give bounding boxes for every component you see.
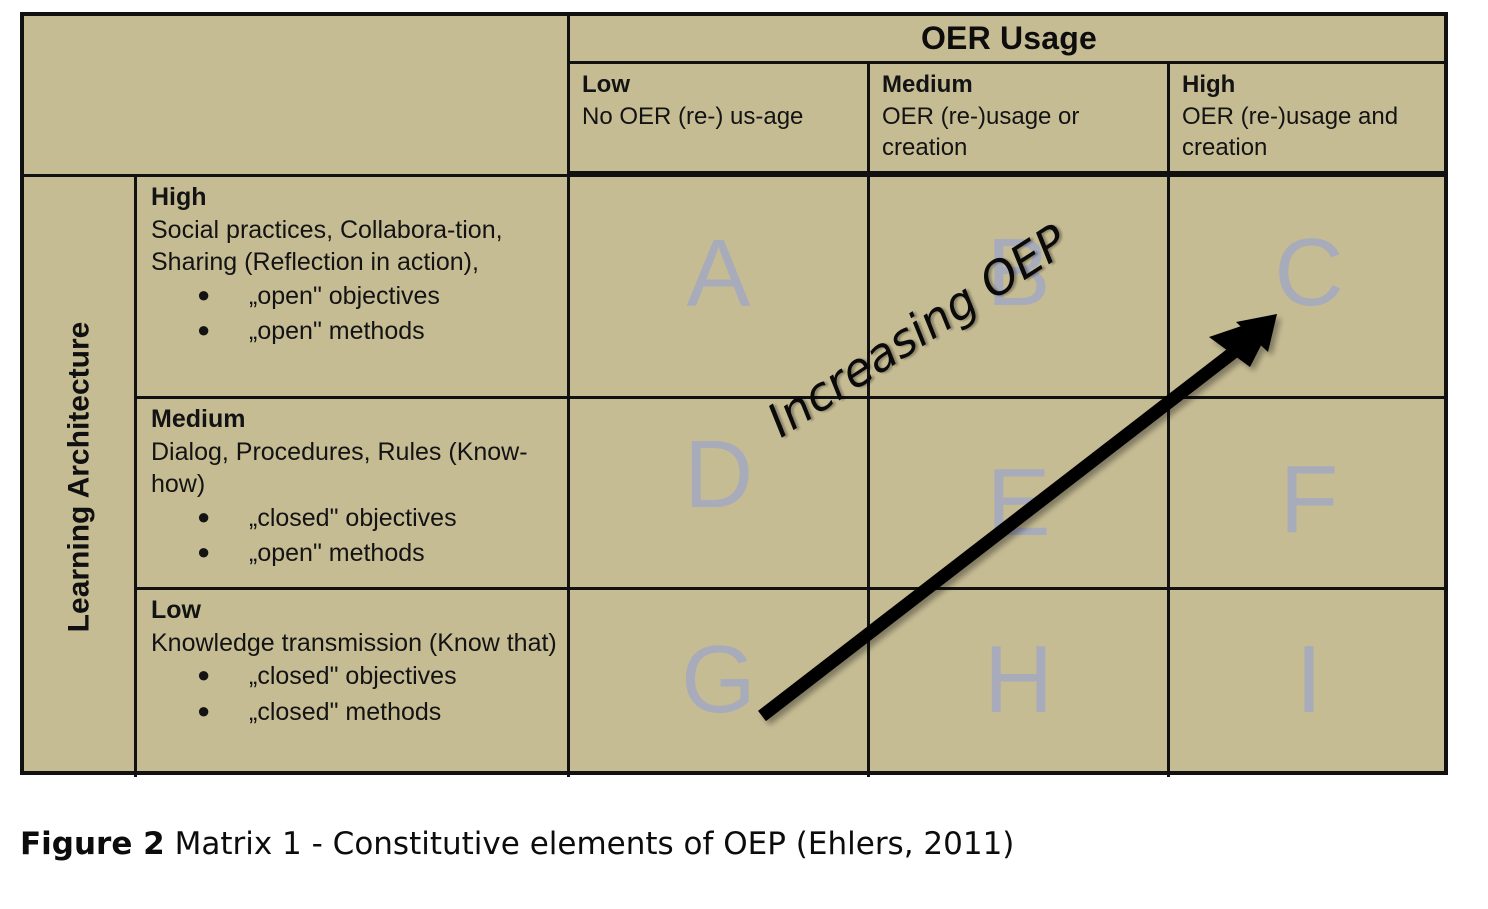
figure-caption: Figure 2 Matrix 1 - Constitutive element… — [20, 826, 1014, 862]
bullet-icon: ● — [197, 501, 210, 532]
matrix-cell-B[interactable]: B — [867, 174, 1167, 396]
bullet-icon: ● — [197, 536, 210, 567]
matrix-cell-E-label: E — [986, 455, 1050, 551]
list-item: ● „open" methods — [197, 536, 559, 572]
list-item-label: „open" objectives — [249, 282, 440, 310]
row-header-high-desc: Social practices, Collabora-tion, Sharin… — [151, 214, 559, 279]
corner-spacer-bottom — [24, 64, 567, 174]
row-header-low-label: Low — [151, 594, 559, 627]
figure-caption-text: Matrix 1 - Constitutive elements of OEP … — [165, 826, 1015, 862]
row-header-medium: Medium Dialog, Procedures, Rules (Know-h… — [134, 396, 567, 587]
column-header-low: Low No OER (re-) us-age — [567, 64, 867, 174]
bullet-icon: ● — [197, 314, 210, 345]
bullet-icon: ● — [197, 695, 210, 726]
matrix-cell-C[interactable]: C — [1167, 174, 1448, 396]
list-item-label: „closed" methods — [249, 698, 441, 726]
row-header-low: Low Knowledge transmission (Know that) ●… — [134, 587, 567, 777]
matrix-cell-B-label: B — [986, 225, 1050, 321]
bullet-icon: ● — [197, 279, 210, 310]
matrix-cell-I[interactable]: I — [1167, 587, 1448, 777]
list-item: ● „open" objectives — [197, 279, 559, 315]
oep-matrix-table: OER Usage Low No OER (re-) us-age Medium… — [20, 12, 1448, 775]
matrix-cell-G-label: G — [681, 632, 756, 728]
list-item: ● „closed" methods — [197, 695, 559, 731]
row-axis-title: Learning Architecture — [62, 322, 96, 633]
matrix-cell-D-label: D — [684, 427, 753, 523]
matrix-cell-F-label: F — [1280, 452, 1339, 548]
list-item-label: „closed" objectives — [249, 662, 457, 690]
bullet-icon: ● — [197, 659, 210, 690]
column-header-medium-desc: OER (re-)usage or creation — [882, 101, 1157, 164]
row-header-high-label: High — [151, 181, 559, 214]
list-item: ● „closed" objectives — [197, 501, 559, 537]
column-header-high-label: High — [1182, 69, 1438, 101]
matrix-grid: OER Usage Low No OER (re-) us-age Medium… — [24, 16, 1444, 771]
list-item: ● „open" methods — [197, 314, 559, 350]
matrix-cell-E[interactable]: E — [867, 396, 1167, 587]
column-header-medium: Medium OER (re-)usage or creation — [867, 64, 1167, 174]
row-header-medium-desc: Dialog, Procedures, Rules (Know-how) — [151, 436, 559, 501]
list-item-label: „open" methods — [249, 317, 425, 345]
matrix-cell-A[interactable]: A — [567, 174, 867, 396]
row-header-low-desc: Knowledge transmission (Know that) — [151, 627, 559, 660]
column-header-high: High OER (re-)usage and creation — [1167, 64, 1448, 174]
row-header-high-bullets: ● „open" objectives ● „open" methods — [151, 279, 559, 350]
column-header-low-desc: No OER (re-) us-age — [582, 101, 857, 133]
row-header-medium-bullets: ● „closed" objectives ● „open" methods — [151, 501, 559, 572]
row-header-low-bullets: ● „closed" objectives ● „closed" methods — [151, 659, 559, 730]
matrix-cell-H[interactable]: H — [867, 587, 1167, 777]
row-header-high: High Social practices, Collabora-tion, S… — [134, 174, 567, 396]
matrix-cell-F[interactable]: F — [1167, 396, 1448, 587]
column-header-low-label: Low — [582, 69, 857, 101]
matrix-cell-C-label: C — [1274, 225, 1343, 321]
figure-2-oep-matrix: OER Usage Low No OER (re-) us-age Medium… — [0, 0, 1488, 904]
column-header-medium-label: Medium — [882, 69, 1157, 101]
list-item-label: „closed" objectives — [249, 504, 457, 532]
matrix-cell-D[interactable]: D — [567, 396, 867, 587]
matrix-cell-G[interactable]: G — [567, 587, 867, 777]
row-header-medium-label: Medium — [151, 403, 559, 436]
figure-caption-number: Figure 2 — [20, 826, 165, 862]
row-axis-title-cell: Learning Architecture — [24, 174, 134, 777]
column-header-high-desc: OER (re-)usage and creation — [1182, 101, 1438, 164]
matrix-cell-H-label: H — [984, 632, 1053, 728]
matrix-cell-I-label: I — [1296, 632, 1323, 728]
column-axis-title: OER Usage — [567, 16, 1448, 64]
matrix-cell-A-label: A — [686, 226, 750, 322]
list-item: ● „closed" objectives — [197, 659, 559, 695]
corner-spacer-top — [24, 16, 567, 64]
list-item-label: „open" methods — [249, 539, 425, 567]
